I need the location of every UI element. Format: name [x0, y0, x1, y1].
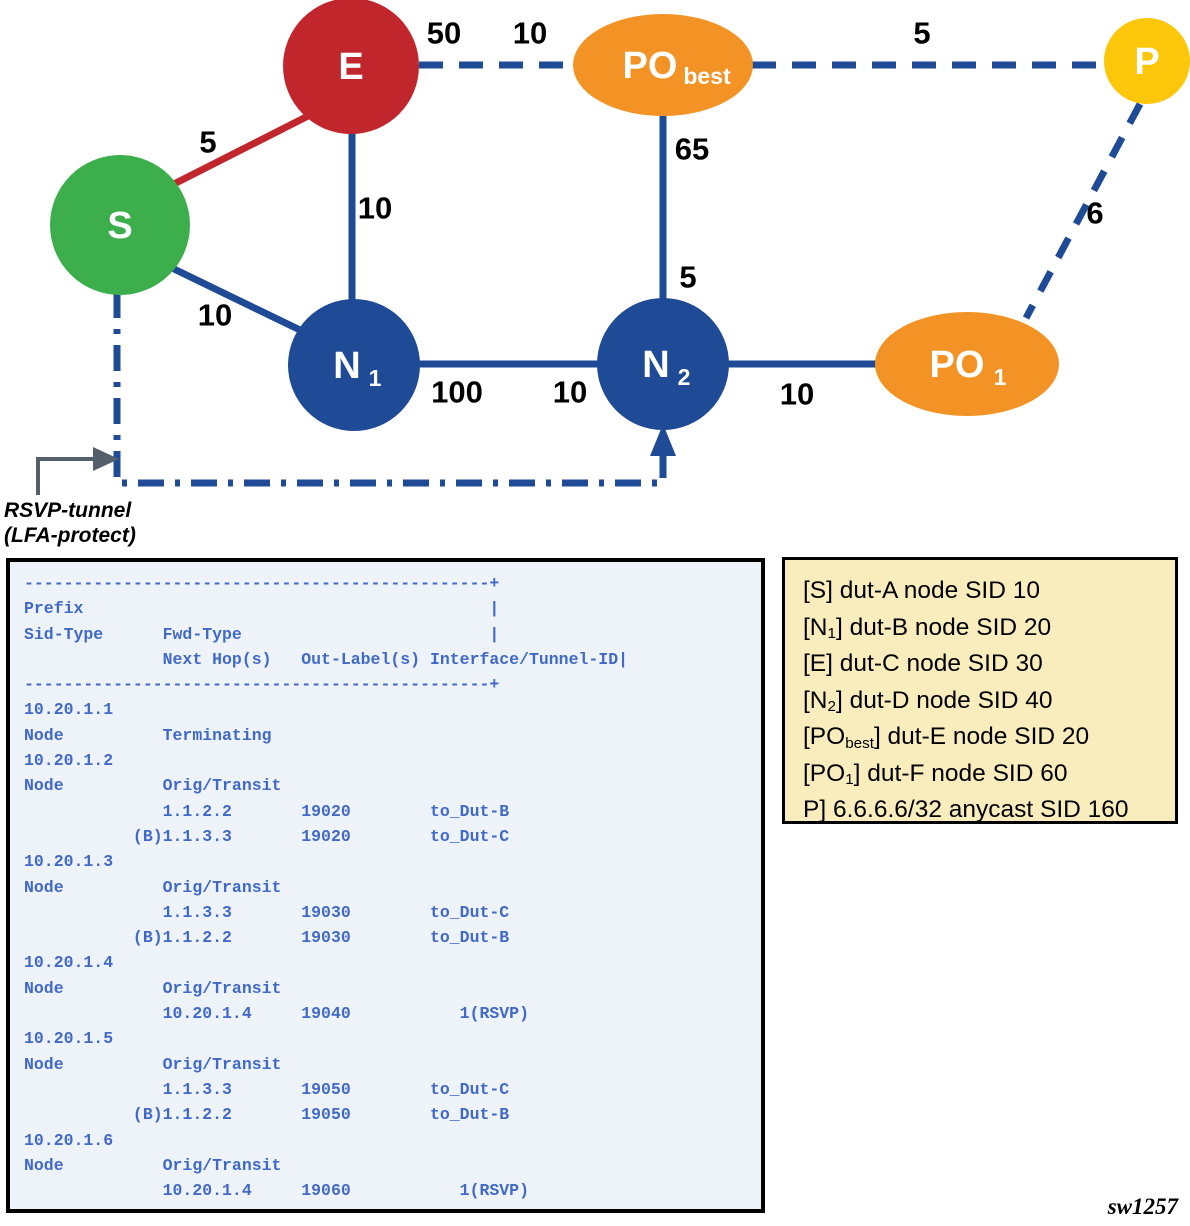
cli-line: 6.6.6.6 [24, 1206, 93, 1213]
legend-prefix: [N [803, 687, 828, 714]
link-s-n1 [172, 268, 300, 330]
link-s-e [168, 115, 310, 187]
cli-line: Node Orig/Transit [24, 979, 281, 998]
legend-suffix: ] dut-F node SID 60 [854, 760, 1068, 787]
node-pobest-label: PO [623, 45, 678, 87]
cli-line: Node Orig/Transit [24, 878, 281, 897]
cost-s-e: 5 [199, 125, 216, 160]
node-po1-label: PO [930, 344, 985, 386]
node-s-label: S [107, 205, 132, 247]
cost-n2-po1: 10 [780, 377, 814, 412]
legend-prefix: [PO [803, 760, 845, 787]
callout-line-2: (LFA-protect) [4, 524, 136, 547]
cost-e-pobest-a: 50 [427, 16, 461, 51]
cli-line: 1.1.3.3 19050 to_Dut-C [24, 1080, 509, 1099]
cli-line: (B)1.1.2.2 19050 to_Dut-B [24, 1105, 509, 1124]
topology-links [117, 65, 1140, 483]
cost-pobest-n2-a: 65 [675, 132, 709, 167]
legend-item: [PO1] dut-F node SID 60 [803, 757, 1165, 794]
cli-line: Node Terminating [24, 726, 272, 745]
cli-line: ----------------------------------------… [24, 675, 499, 694]
legend-item: [N1] dut-B node SID 20 [803, 611, 1165, 648]
cli-output-panel: ----------------------------------------… [6, 558, 765, 1213]
link-p-po1 [1026, 104, 1140, 318]
cost-n1-n2-a: 100 [431, 375, 483, 410]
legend-prefix: [E] [803, 650, 840, 677]
cli-line: (B)1.1.2.2 19030 to_Dut-B [24, 928, 509, 947]
node-n1-label: N [333, 345, 360, 387]
sid-legend-panel: [S] dut-A node SID 10 [N1] dut-B node SI… [782, 557, 1178, 824]
node-po1[interactable]: PO 1 [875, 312, 1059, 416]
legend-prefix: [N [803, 614, 828, 641]
cli-line: 1.1.3.3 19030 to_Dut-C [24, 903, 509, 922]
cli-line: 10.20.1.6 [24, 1131, 113, 1150]
cost-e-pobest-b: 10 [513, 16, 547, 51]
legend-item: [N2] dut-D node SID 40 [803, 684, 1165, 721]
node-pobest-sublabel: best [683, 63, 731, 89]
cli-line: ----------------------------------------… [24, 574, 499, 593]
cost-p-po1: 6 [1086, 196, 1103, 231]
legend-sub: best [845, 735, 874, 752]
legend-item: [E] dut-C node SID 30 [803, 647, 1165, 684]
node-p-label: P [1134, 41, 1159, 83]
node-n2-label: N [642, 344, 669, 386]
callout-leader-line [38, 459, 98, 495]
cli-line: 10.20.1.4 19040 1(RSVP) [24, 1004, 529, 1023]
node-po1-sublabel: 1 [994, 364, 1007, 390]
legend-suffix: dut-A node SID 10 [840, 577, 1040, 604]
cli-line: Next Hop(s) Out-Label(s) Interface/Tunne… [24, 650, 628, 669]
cli-line: 10.20.1.3 [24, 852, 113, 871]
legend-prefix: [PO [803, 723, 845, 750]
legend-suffix: dut-C node SID 30 [840, 650, 1043, 677]
node-e-label: E [338, 46, 363, 88]
legend-sub: 1 [828, 625, 836, 642]
callout-line-1: RSVP-tunnel [4, 499, 132, 522]
cli-line: 10.20.1.2 [24, 751, 113, 770]
cost-e-n1: 10 [358, 191, 392, 226]
cli-line: Sid-Type Fwd-Type | [24, 625, 499, 644]
cli-line: 10.20.1.4 19060 1(RSVP) [24, 1181, 529, 1200]
legend-suffix: 6.6.6.6/32 anycast SID 160 [833, 796, 1129, 823]
cli-line: (B)1.1.3.3 19020 to_Dut-C [24, 827, 509, 846]
cli-line: 10.20.1.5 [24, 1029, 113, 1048]
legend-prefix: P] [803, 796, 833, 823]
node-n1-sublabel: 1 [369, 365, 382, 391]
legend-item: [PObest] dut-E node SID 20 [803, 720, 1165, 757]
network-topology-diagram: 5 50 10 5 10 10 65 5 100 10 10 6 S E PO … [0, 0, 1190, 550]
node-n2[interactable]: N 2 [597, 298, 729, 430]
legend-suffix: ] dut-D node SID 40 [836, 687, 1053, 714]
cli-line: Node Orig/Transit [24, 1055, 281, 1074]
cost-s-n1: 10 [198, 298, 232, 333]
cli-line: Node Orig/Transit [24, 776, 281, 795]
legend-suffix: ] dut-B node SID 20 [836, 614, 1051, 641]
cli-line: 1.1.2.2 19020 to_Dut-B [24, 802, 509, 821]
node-n2-sublabel: 2 [678, 364, 691, 390]
cli-line: Prefix | [24, 599, 499, 618]
legend-item: P] 6.6.6.6/32 anycast SID 160 [803, 793, 1165, 830]
cli-output-text: ----------------------------------------… [24, 571, 761, 1213]
figure-watermark: sw1257 [1108, 1194, 1178, 1220]
node-n1[interactable]: N 1 [288, 299, 420, 431]
cli-line: 10.20.1.4 [24, 953, 113, 972]
node-s[interactable]: S [50, 155, 190, 295]
legend-item: [S] dut-A node SID 10 [803, 574, 1165, 611]
legend-prefix: [S] [803, 577, 840, 604]
cost-pobest-p: 5 [913, 16, 930, 51]
node-e[interactable]: E [283, 0, 419, 134]
legend-sub: 1 [845, 771, 853, 788]
cli-line: 10.20.1.1 [24, 700, 113, 719]
legend-suffix: ] dut-E node SID 20 [874, 723, 1089, 750]
cost-n1-n2-b: 10 [553, 375, 587, 410]
cli-line: Node Orig/Transit [24, 1156, 281, 1175]
cost-pobest-n2-b: 5 [679, 260, 696, 295]
legend-sub: 2 [828, 698, 836, 715]
node-pobest[interactable]: PO best [573, 14, 753, 116]
node-p[interactable]: P [1104, 18, 1190, 104]
